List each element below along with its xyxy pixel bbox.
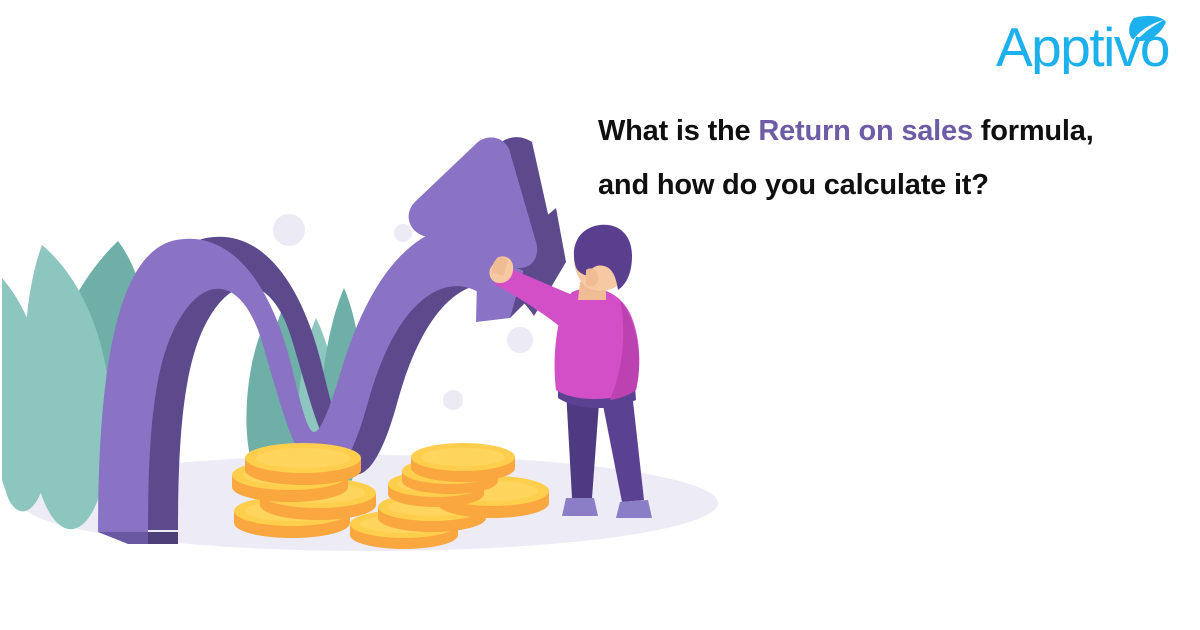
banner-canvas: What is the Return on sales formula, and… bbox=[0, 0, 1200, 630]
decor-dot bbox=[507, 327, 533, 353]
person-shoe-front bbox=[616, 500, 652, 518]
headline-line-2: and how do you calculate it? bbox=[598, 158, 1188, 212]
decor-dot bbox=[443, 390, 463, 410]
decor-dot bbox=[273, 214, 305, 246]
headline-suffix: formula, bbox=[973, 115, 1094, 147]
headline-block: What is the Return on sales formula, and… bbox=[598, 104, 1188, 212]
hero-illustration bbox=[0, 0, 760, 630]
apptivo-logo[interactable]: Apptivo Apptivo bbox=[996, 14, 1186, 74]
headline-line-1: What is the Return on sales formula, bbox=[598, 104, 1188, 158]
headline-accent: Return on sales bbox=[758, 115, 973, 147]
headline-prefix: What is the bbox=[598, 115, 758, 147]
logo-wordmark: Apptivo bbox=[996, 16, 1169, 74]
person-shoe-back bbox=[562, 498, 598, 516]
decor-dot bbox=[394, 224, 412, 242]
arrow-foot-shadow-base bbox=[148, 532, 178, 544]
